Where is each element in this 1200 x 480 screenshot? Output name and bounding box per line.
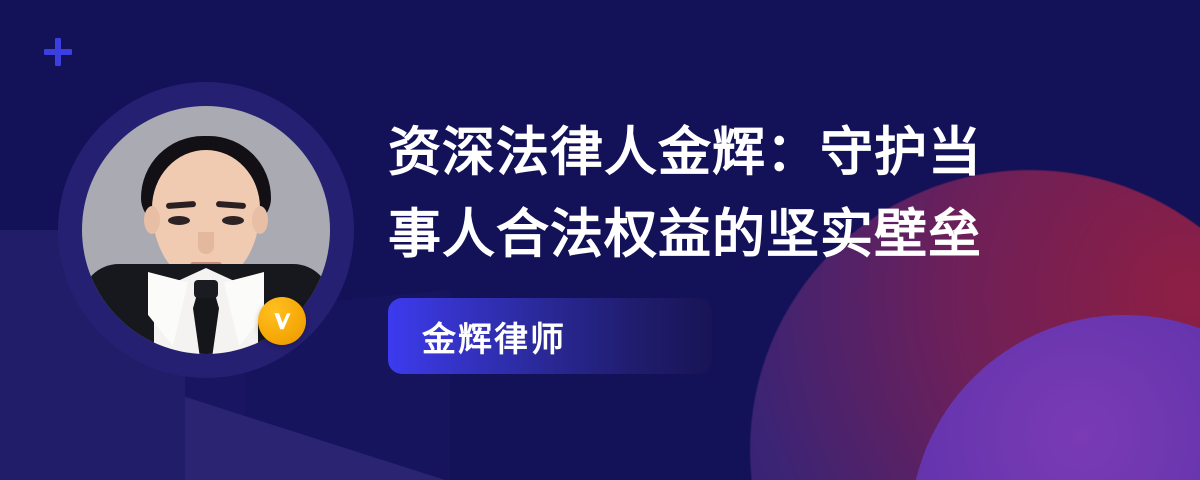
banner-content: 资深法律人金辉：守护当 事人合法权益的坚实壁垒 金辉律师 (388, 112, 1178, 374)
plus-icon (42, 36, 74, 68)
avatar (58, 82, 354, 378)
lawyer-name-pill[interactable]: 金辉律师 (388, 298, 712, 374)
verified-check-icon (258, 297, 306, 345)
page-title: 资深法律人金辉：守护当 事人合法权益的坚实壁垒 (388, 112, 1088, 276)
lawyer-profile-banner: 资深法律人金辉：守护当 事人合法权益的坚实壁垒 金辉律师 (0, 0, 1200, 480)
